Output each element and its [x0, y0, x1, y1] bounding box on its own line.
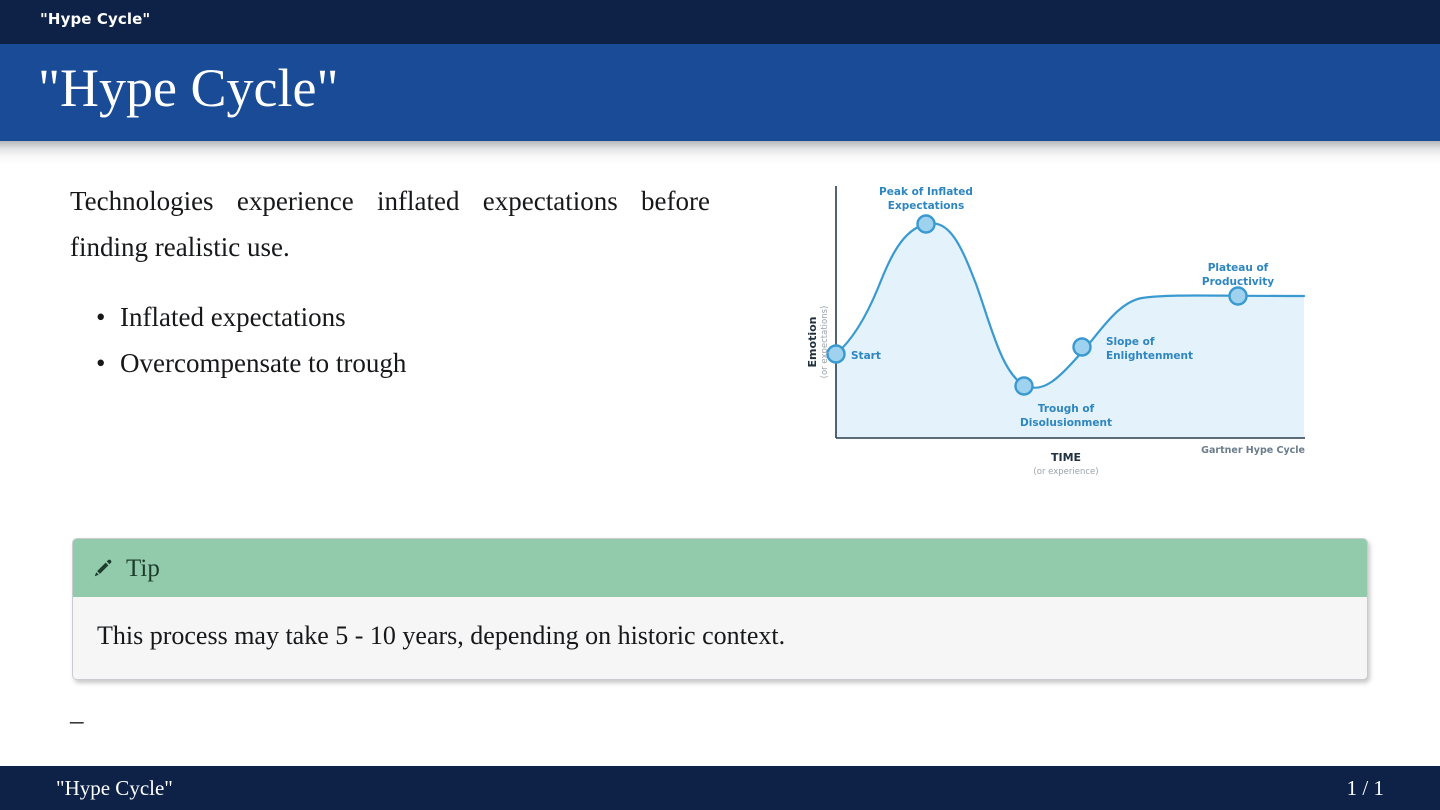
footer-bar: "Hype Cycle" 1 / 1: [0, 766, 1440, 810]
chart-point-slope: [1074, 339, 1091, 356]
footer-title: "Hype Cycle": [56, 776, 173, 801]
chart-credit: Gartner Hype Cycle: [1201, 445, 1305, 456]
chart-label-trough-line2: Disolusionment: [1020, 417, 1112, 429]
chart-label-peak-line1: Peak of Inflated: [879, 186, 973, 198]
list-item: • Overcompensate to trough: [70, 340, 710, 386]
hype-cycle-chart: Start Peak of Inflated Expectations Trou…: [790, 172, 1350, 482]
chart-y-axis-title: Emotion: [806, 317, 819, 368]
footer-page-indicator: 1 / 1: [1347, 776, 1384, 801]
body-column: Technologies experience inflated expecta…: [70, 178, 710, 386]
chart-label-peak-line2: Expectations: [888, 200, 964, 212]
title-band-shadow: [0, 141, 1440, 165]
chart-label-start: Start: [851, 350, 881, 362]
chart-point-trough: [1016, 378, 1033, 395]
chart-label-slope-line2: Enlightenment: [1106, 350, 1193, 362]
chart-point-start: [828, 346, 845, 363]
bullet-marker-icon: •: [96, 294, 105, 340]
hype-cycle-svg: Start Peak of Inflated Expectations Trou…: [790, 172, 1350, 482]
lead-paragraph: Technologies experience inflated expecta…: [70, 178, 710, 270]
chart-label-slope-line1: Slope of: [1106, 336, 1155, 348]
chart-y-axis-subtitle: (or expectations): [820, 306, 830, 379]
chart-point-peak: [918, 216, 935, 233]
tip-callout: Tip This process may take 5 - 10 years, …: [72, 538, 1368, 680]
list-item-label: Inflated expectations: [120, 302, 346, 332]
chart-x-axis-subtitle: (or experience): [1033, 467, 1098, 477]
list-item: • Inflated expectations: [70, 294, 710, 340]
pencil-icon: [91, 556, 115, 580]
chart-point-plateau: [1230, 288, 1247, 305]
list-item-label: Overcompensate to trough: [120, 348, 406, 378]
page-title: "Hype Cycle": [38, 58, 339, 118]
bullet-marker-icon: •: [96, 340, 105, 386]
bullet-list: • Inflated expectations • Overcompensate…: [70, 294, 710, 386]
chart-x-axis-title: TIME: [1051, 451, 1081, 464]
chart-label-plateau-line2: Productivity: [1202, 276, 1274, 288]
topbar-title: "Hype Cycle": [40, 10, 150, 28]
chart-label-trough-line1: Trough of: [1038, 403, 1095, 415]
trailing-dash: –: [70, 702, 84, 738]
tip-callout-text: This process may take 5 - 10 years, depe…: [73, 597, 1367, 679]
slide: "Hype Cycle" "Hype Cycle" Technologies e…: [0, 0, 1440, 810]
top-navigation-bar: "Hype Cycle": [0, 0, 1440, 44]
tip-callout-header: Tip: [73, 539, 1367, 597]
tip-callout-label: Tip: [126, 556, 160, 581]
chart-label-plateau-line1: Plateau of: [1208, 262, 1269, 274]
